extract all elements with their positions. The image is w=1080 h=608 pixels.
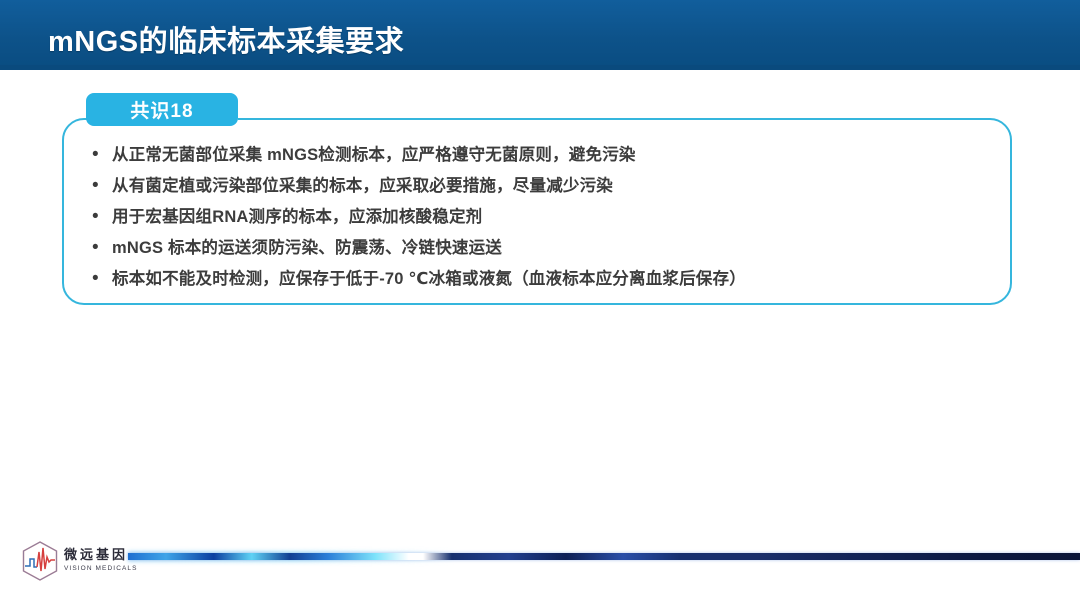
- bullet-marker-icon: •: [92, 235, 112, 261]
- list-item-text: 标本如不能及时检测，应保存于低于-70 ℃冰箱或液氮（血液标本应分离血浆后保存）: [112, 266, 746, 292]
- logo-name-cn: 微远基因: [64, 544, 138, 563]
- list-item: • mNGS 标本的运送须防污染、防震荡、冷链快速运送: [92, 235, 992, 266]
- page-title: mNGS的临床标本采集要求: [48, 18, 404, 60]
- logo: 微远基因 VISION MEDICALS: [18, 538, 126, 584]
- list-item-text: 从有菌定植或污染部位采集的标本，应采取必要措施，尽量减少污染: [112, 173, 613, 199]
- hexagon-waveform-logo-icon: [20, 540, 60, 582]
- bullet-marker-icon: •: [92, 266, 112, 292]
- logo-text: 微远基因 VISION MEDICALS: [64, 544, 138, 572]
- slide: mNGS的临床标本采集要求 • 从正常无菌部位采集 mNGS检测标本，应严格遵守…: [0, 0, 1080, 608]
- consensus-content-box: • 从正常无菌部位采集 mNGS检测标本，应严格遵守无菌原则，避免污染 • 从有…: [62, 118, 1012, 305]
- bullet-list: • 从正常无菌部位采集 mNGS检测标本，应严格遵守无菌原则，避免污染 • 从有…: [92, 142, 992, 297]
- consensus-badge: 共识18: [86, 93, 238, 126]
- status-badge: 共识18: [130, 96, 193, 123]
- list-item: • 标本如不能及时检测，应保存于低于-70 ℃冰箱或液氮（血液标本应分离血浆后保…: [92, 266, 992, 297]
- slide-header: mNGS的临床标本采集要求: [0, 0, 1080, 70]
- list-item-text: 用于宏基因组RNA测序的标本，应添加核酸稳定剂: [112, 204, 482, 230]
- list-item: • 从有菌定植或污染部位采集的标本，应采取必要措施，尽量减少污染: [92, 173, 992, 204]
- header-bottom-shade: [0, 65, 1080, 70]
- footer-decorative-streak: [128, 553, 1080, 560]
- bullet-marker-icon: •: [92, 204, 112, 230]
- list-item: • 用于宏基因组RNA测序的标本，应添加核酸稳定剂: [92, 204, 992, 235]
- list-item-text: 从正常无菌部位采集 mNGS检测标本，应严格遵守无菌原则，避免污染: [112, 142, 636, 168]
- list-item-text: mNGS 标本的运送须防污染、防震荡、冷链快速运送: [112, 235, 502, 261]
- list-item: • 从正常无菌部位采集 mNGS检测标本，应严格遵守无菌原则，避免污染: [92, 142, 992, 173]
- bullet-marker-icon: •: [92, 173, 112, 199]
- logo-name-en: VISION MEDICALS: [64, 565, 138, 572]
- bullet-marker-icon: •: [92, 142, 112, 168]
